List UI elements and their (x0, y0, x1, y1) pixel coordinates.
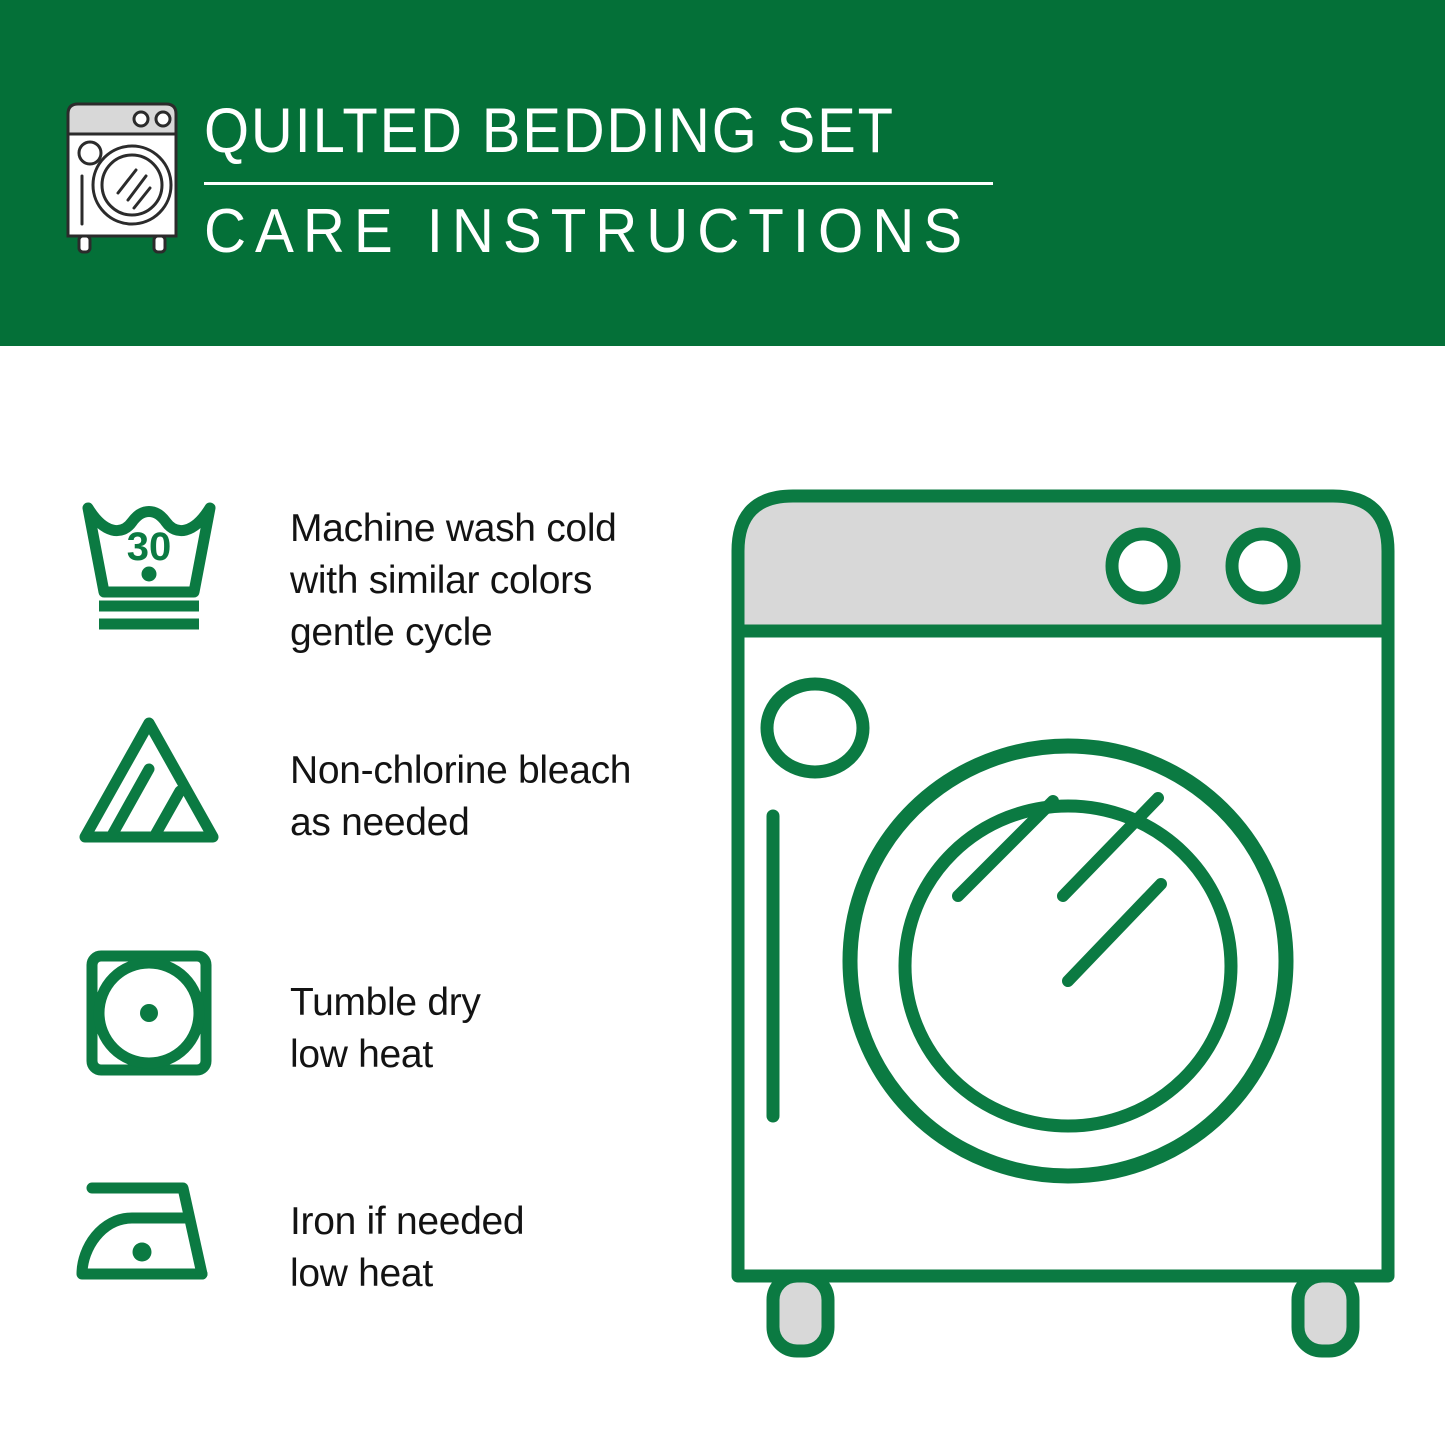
wash-tub-30-icon: 30 (70, 482, 228, 640)
knob-right (1232, 534, 1294, 598)
care-instruction-text: Tumble dry low heat (290, 977, 481, 1081)
tumble-dry-icon (70, 934, 228, 1092)
care-instruction-text: Non-chlorine bleach as needed (290, 745, 631, 849)
care-instruction-text: Machine wash cold with similar colors ge… (290, 503, 617, 659)
detergent-dial (767, 684, 863, 772)
care-instruction-text: Iron if needed low heat (290, 1196, 524, 1300)
washing-machine-logo-icon (62, 96, 182, 256)
care-instruction-row: 30 Machine wash cold with similar colors… (70, 482, 690, 659)
care-instruction-row: Tumble dry low heat (70, 934, 690, 1092)
foot-left (773, 1276, 828, 1351)
header-title-group: QUILTED BEDDING SET CARE INSTRUCTIONS (204, 96, 1020, 263)
page-title: QUILTED BEDDING SET (204, 100, 955, 163)
iron-icon (70, 1152, 228, 1310)
bleach-triangle-icon (70, 703, 228, 861)
wash-temp-label: 30 (127, 525, 172, 569)
header-content: QUILTED BEDDING SET CARE INSTRUCTIONS (62, 96, 1020, 263)
knob-left (1112, 534, 1174, 598)
washing-machine-illustration (718, 476, 1408, 1366)
title-divider (204, 182, 993, 185)
main-content: 30 Machine wash cold with similar colors… (0, 346, 1445, 1445)
page-subtitle: CARE INSTRUCTIONS (204, 201, 971, 263)
care-instruction-row: Iron if needed low heat (70, 1152, 690, 1310)
header-banner: QUILTED BEDDING SET CARE INSTRUCTIONS (0, 0, 1445, 346)
care-instruction-row: Non-chlorine bleach as needed (70, 703, 690, 861)
foot-right (1298, 1276, 1353, 1351)
door-inner-ring (905, 806, 1231, 1126)
